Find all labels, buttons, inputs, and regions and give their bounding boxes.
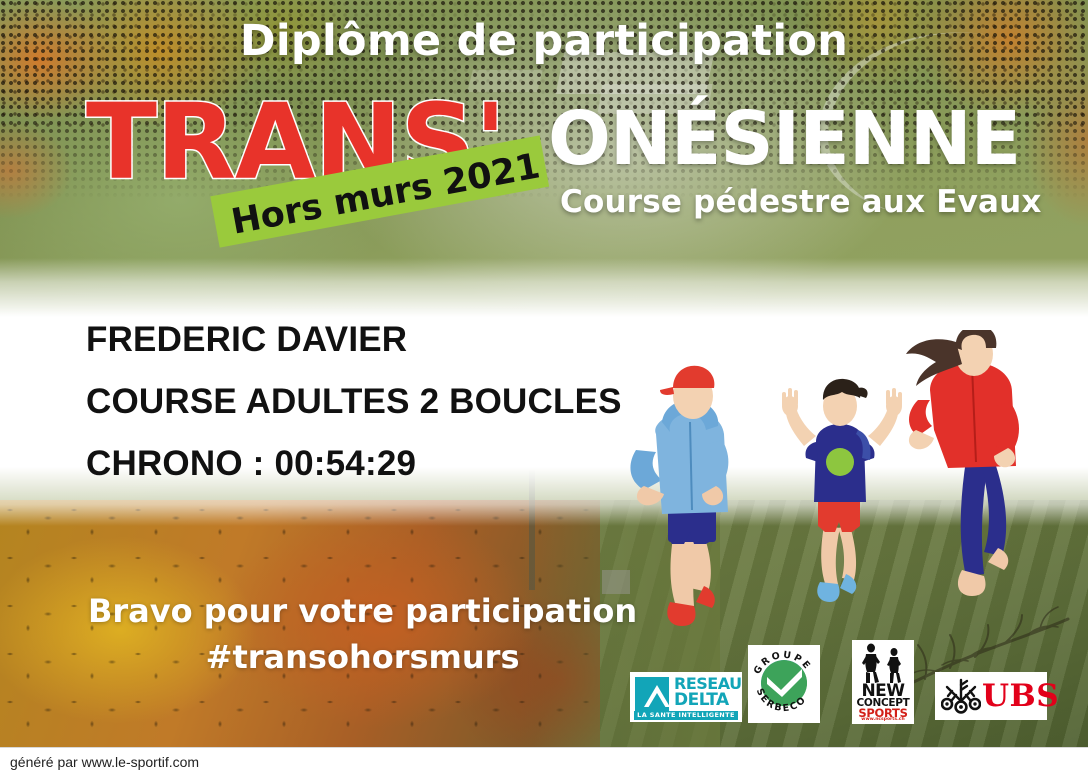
participant-info: FREDERIC DAVIER COURSE ADULTES 2 BOUCLES…: [86, 320, 622, 506]
running-figures-icon: [856, 643, 910, 683]
certificate-page: Diplôme de participation TRANS' ONÉSIENN…: [0, 0, 1088, 777]
participant-race: COURSE ADULTES 2 BOUCLES: [86, 382, 622, 422]
participant-chrono: CHRONO : 00:54:29: [86, 444, 622, 484]
delta-triangle-icon: [635, 677, 669, 711]
footer-bar: généré par www.le-sportif.com: [0, 747, 1088, 777]
brand-onesienne: ONÉSIENNE: [548, 102, 1020, 176]
sponsor-logo-ubs[interactable]: UBS: [935, 672, 1047, 720]
sponsor-logos: RESEAU DELTA LA SANTE INTELLIGENTE GROUP…: [630, 640, 1050, 730]
sponsor-logo-reseau-delta[interactable]: RESEAU DELTA LA SANTE INTELLIGENTE: [630, 672, 742, 722]
runners-illustration: [618, 330, 1078, 630]
adult-female-runner: [906, 330, 1019, 596]
svg-text:GROUPE: GROUPE: [752, 650, 814, 677]
participant-name: FREDERIC DAVIER: [86, 320, 622, 360]
congrats-message: Bravo pour votre participation #transoho…: [88, 588, 637, 681]
congrats-line-1: Bravo pour votre participation: [88, 588, 637, 634]
serbeco-arc-text: GROUPE SERBECO: [748, 645, 820, 723]
delta-tagline: LA SANTE INTELLIGENTE: [634, 711, 738, 720]
congrats-hashtag: #transohorsmurs: [88, 634, 637, 680]
sponsor-logo-groupe-serbeco[interactable]: GROUPE SERBECO: [748, 645, 820, 723]
sponsor-logo-new-concept-sports[interactable]: NEW CONCEPT SPORTS www.ncsports.ch: [852, 640, 914, 724]
page-title: Diplôme de participation: [0, 16, 1088, 66]
ncs-url: www.ncsports.ch: [852, 718, 914, 723]
ubs-keys-icon: [941, 677, 981, 715]
footer-generated-by: généré par www.le-sportif.com: [10, 754, 199, 770]
event-subtitle: Course pédestre aux Evaux: [560, 184, 1042, 220]
ubs-wordmark: UBS: [982, 677, 1059, 715]
child-runner: [782, 379, 902, 602]
delta-name-bottom: DELTA: [674, 692, 729, 709]
svg-text:SERBECO: SERBECO: [754, 687, 809, 714]
adult-male-runner: [630, 366, 728, 626]
